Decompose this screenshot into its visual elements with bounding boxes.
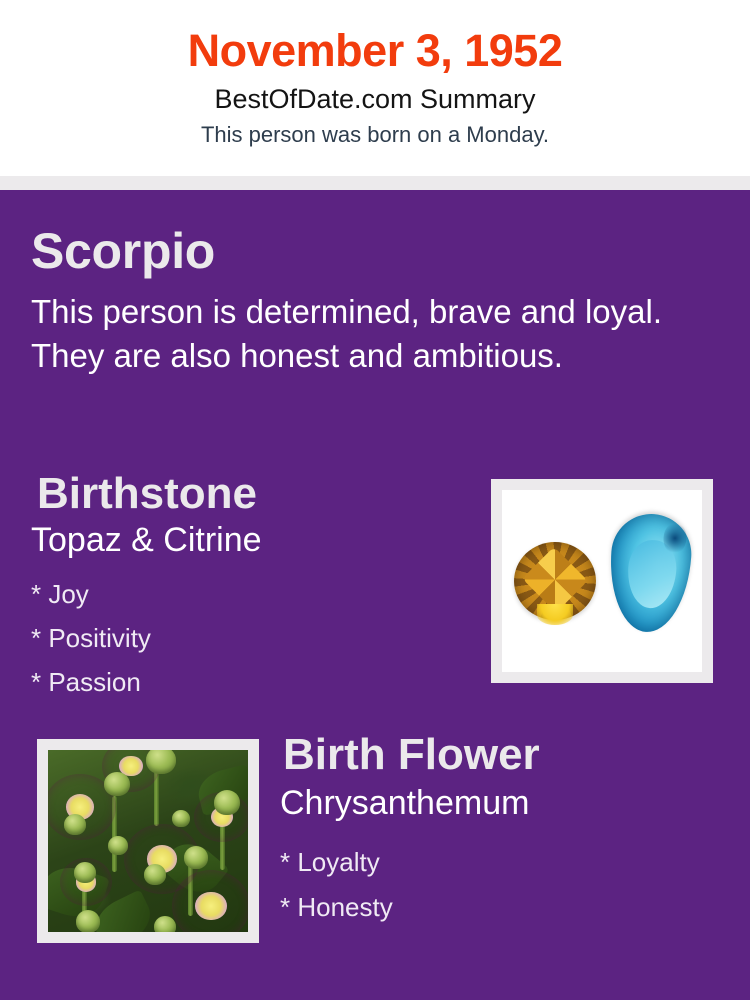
flower-bud-icon (172, 810, 190, 827)
flower-bud-icon (64, 814, 86, 835)
flower-bud-icon (144, 864, 166, 885)
birth-flower-photo-canvas (48, 750, 248, 932)
birthstone-photo-canvas (502, 490, 702, 672)
citrine-gem-icon (514, 542, 596, 620)
header: November 3, 1952 BestOfDate.com Summary … (0, 0, 750, 176)
birth-flower-name: Chrysanthemum (280, 785, 529, 822)
content-panel: Scorpio This person is determined, brave… (0, 190, 750, 1000)
flower-bud-icon (154, 916, 176, 932)
topaz-gem-icon (606, 511, 694, 634)
flower-bud-icon (184, 846, 208, 869)
flower-bud-icon (104, 772, 130, 796)
site-summary-subtitle: BestOfDate.com Summary (0, 76, 750, 115)
birthstone-name: Topaz & Citrine (31, 522, 262, 559)
header-divider (0, 176, 750, 190)
birthstone-traits-list: * Joy * Positivity * Passion (31, 572, 151, 705)
list-item: * Joy (31, 572, 151, 616)
summary-card: November 3, 1952 BestOfDate.com Summary … (0, 0, 750, 1000)
birthstone-heading: Birthstone (37, 472, 257, 516)
birth-flower-heading: Birth Flower (283, 733, 540, 777)
zodiac-sign-name: Scorpio (31, 226, 215, 276)
flower-bud-icon (76, 910, 100, 932)
flower-bud-icon (74, 862, 96, 883)
flower-bud-icon (108, 836, 128, 855)
list-item: * Passion (31, 660, 151, 704)
list-item: * Loyalty (280, 840, 393, 885)
list-item: * Honesty (280, 885, 393, 930)
page-title-date: November 3, 1952 (0, 0, 750, 76)
flower-bud-icon (146, 750, 176, 774)
birthstone-image (491, 479, 713, 683)
birth-flower-traits-list: * Loyalty * Honesty (280, 840, 393, 929)
birth-day-note: This person was born on a Monday. (0, 115, 750, 147)
birth-flower-image (37, 739, 259, 943)
flower-bud-icon (214, 790, 240, 815)
zodiac-description: This person is determined, brave and loy… (31, 290, 701, 378)
chrysanthemum-bloom-icon (172, 870, 248, 932)
list-item: * Positivity (31, 616, 151, 660)
